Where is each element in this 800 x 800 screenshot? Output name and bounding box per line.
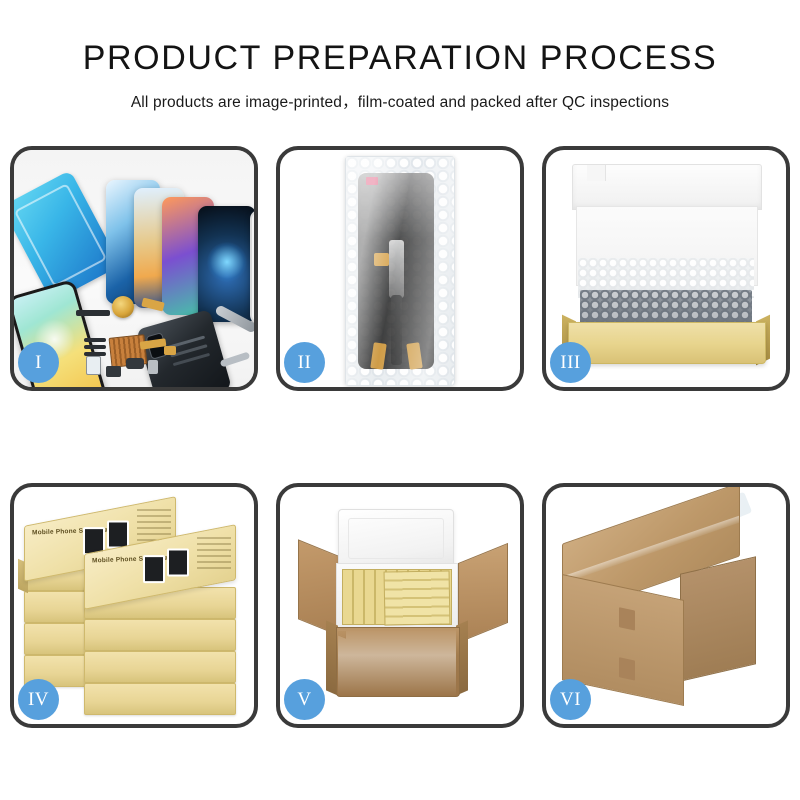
bubble-wrap-bag-icon <box>345 156 455 386</box>
lid-phone-image-c <box>143 555 165 583</box>
yellow-boxes-row-2 <box>384 570 451 625</box>
header: PRODUCT PREPARATION PROCESS All products… <box>0 0 800 112</box>
foam-lid-icon <box>338 509 454 569</box>
lid-spec-lines-front <box>197 538 231 572</box>
component-3-icon <box>126 358 144 369</box>
step-panel-5: V <box>276 483 524 728</box>
box-lid-icon <box>572 164 762 210</box>
step-badge-1: I <box>18 342 59 383</box>
battery-connector-icon <box>148 360 158 374</box>
step-badge-5: V <box>284 679 325 720</box>
small-parts-bars <box>84 338 106 342</box>
process-steps-grid: I II <box>10 146 790 728</box>
carton-handle-slot-top <box>619 607 635 630</box>
step-panel-4: Mobile Phone Spare Parts Mobile Phone Sp… <box>10 483 258 728</box>
kraft-box-front-icon <box>568 322 766 364</box>
sealed-carton-side <box>680 556 756 682</box>
step-panel-3: III <box>542 146 790 391</box>
lid-phone-image-d <box>167 549 189 577</box>
step-panel-2: II <box>276 146 524 391</box>
phone-screen-2-icon <box>198 206 254 322</box>
step-panel-6: VI <box>542 483 790 728</box>
component-2-icon <box>106 366 121 377</box>
product-preparation-infographic: PRODUCT PREPARATION PROCESS All products… <box>0 0 800 800</box>
step-badge-3: III <box>550 342 591 383</box>
stacked-box-f3 <box>84 651 236 683</box>
page-subtitle: All products are image-printed，film-coat… <box>0 90 800 112</box>
bag-gloss-overlay <box>346 157 454 385</box>
step-panel-1: I <box>10 146 258 391</box>
carton-handle-slot-bottom <box>619 657 635 680</box>
stacked-box-f4 <box>84 683 236 715</box>
gold-contact-icon <box>164 346 176 355</box>
grey-bubble-wrap-icon <box>580 290 752 324</box>
page-title: PRODUCT PREPARATION PROCESS <box>0 40 800 77</box>
step-badge-2: II <box>284 342 325 383</box>
step-badge-6: VI <box>550 679 591 720</box>
speaker-coil-icon <box>112 296 134 318</box>
phone-glass-icon <box>250 210 254 324</box>
step-badge-4: IV <box>18 679 59 720</box>
carton-body-icon <box>336 627 460 697</box>
box-stack: Mobile Phone Spare Parts Mobile Phone Sp… <box>20 503 248 713</box>
sim-tray-icon <box>86 356 101 375</box>
lid-phone-image-b <box>107 521 129 549</box>
stacked-box-f2 <box>84 619 236 651</box>
earpiece-bar-icon <box>76 310 110 316</box>
